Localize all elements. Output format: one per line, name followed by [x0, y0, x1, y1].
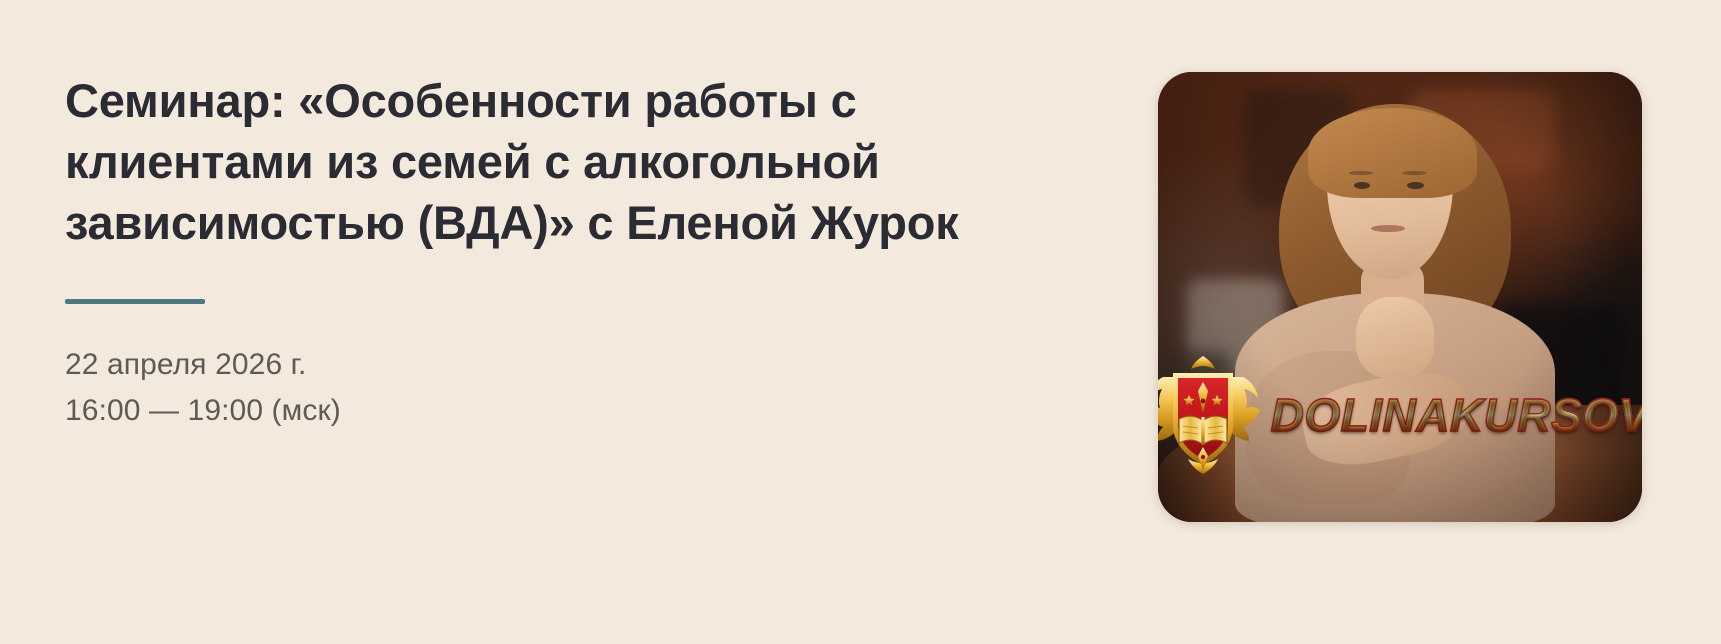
shield-book-pen-emblem [1158, 351, 1267, 479]
page-title: Семинар: «Особенности работы с клиентами… [65, 70, 965, 253]
accent-divider [65, 299, 205, 304]
speaker-photo-card: DOLINAKURSOV [1158, 72, 1642, 522]
event-banner: Семинар: «Особенности работы с клиентами… [0, 0, 1721, 644]
hair-front [1308, 108, 1477, 198]
watermark: DOLINAKURSOV [1158, 351, 1642, 479]
event-meta: 22 апреля 2026 г. 16:00 — 19:00 (мск) [65, 342, 1025, 433]
event-date: 22 апреля 2026 г. [65, 342, 1025, 388]
event-time: 16:00 — 19:00 (мск) [65, 388, 1025, 434]
event-info-column: Семинар: «Особенности работы с клиентами… [65, 70, 1025, 433]
watermark-text: DOLINAKURSOV [1271, 388, 1642, 442]
eyebrow-right [1402, 171, 1426, 175]
